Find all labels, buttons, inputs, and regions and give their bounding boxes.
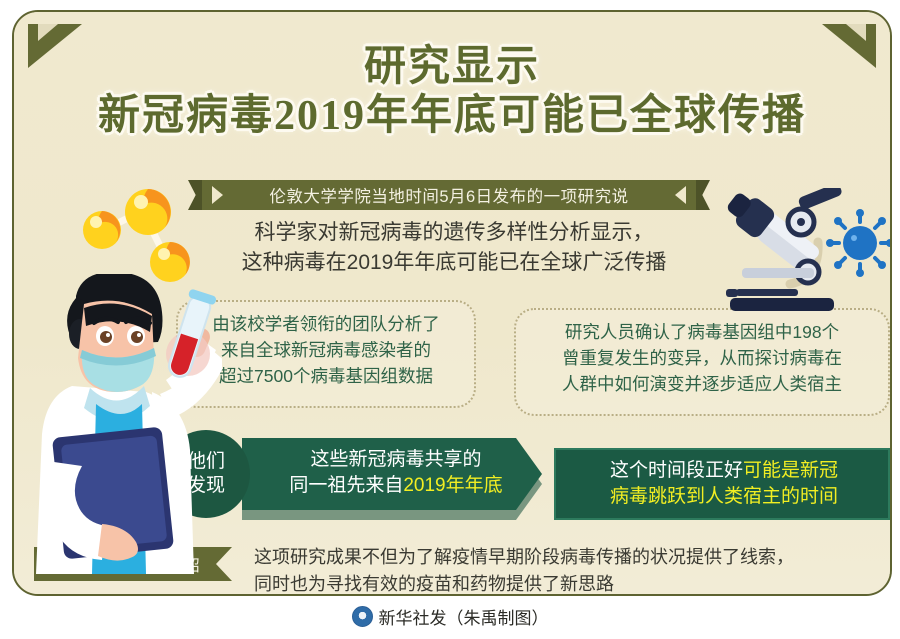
info-box-left-line-2: 来自全球新冠病毒感染者的 xyxy=(192,338,460,364)
conclusion-line-1-plain: 这个时间段正好 xyxy=(610,460,743,481)
lead-line-2: 这种病毒在2019年年底可能已在全球广泛传播 xyxy=(164,248,744,278)
info-box-right-line-2: 曾重复发生的变异，从而探讨病毒在 xyxy=(530,346,874,372)
findings-bar-line-2-plain: 同一祖先来自 xyxy=(289,475,403,496)
source-banner: 伦敦大学学院当地时间5月6日发布的一项研究说 xyxy=(202,180,696,210)
findings-bar-line-2-highlight: 2019年年底 xyxy=(403,475,502,496)
bottom-line-2: 同时也为寻找有效的疫苗和药物提供了新思路 xyxy=(254,571,874,596)
xinhua-logo-icon xyxy=(352,606,373,627)
conclusion-line-1-highlight: 可能是新冠 xyxy=(743,460,838,481)
findings-bar-line-2: 同一祖先来自2019年年底 xyxy=(276,473,516,499)
info-box-right: 研究人员确认了病毒基因组中198个 曾重复发生的变异，从而探讨病毒在 人群中如何… xyxy=(514,308,890,416)
bottom-line-1: 这项研究成果不但为了解疫情早期阶段病毒传播的状况提供了线索， xyxy=(254,544,874,571)
bottom-paragraph: 这项研究成果不但为了解疫情早期阶段病毒传播的状况提供了线索， 同时也为寻找有效的… xyxy=(254,544,874,596)
chevron-left-icon xyxy=(212,186,223,204)
conclusion-line-1: 这个时间段正好可能是新冠 xyxy=(568,458,880,484)
info-box-right-line-1: 研究人员确认了病毒基因组中198个 xyxy=(530,320,874,346)
credit-footer: 新华社发（朱禹制图） xyxy=(0,604,900,629)
conclusion-panel: 这个时间段正好可能是新冠 病毒跳跃到人类宿主的时间 xyxy=(554,448,890,520)
poster-frame: 研究显示 新冠病毒2019年年底可能已全球传播 伦敦大学学院当地时间5月6日发布… xyxy=(12,10,892,596)
info-box-right-line-3: 人群中如何演变并逐步适应人类宿主 xyxy=(530,372,874,398)
title-line-1: 研究显示 xyxy=(14,44,890,91)
lead-paragraph: 科学家对新冠病毒的遗传多样性分析显示， 这种病毒在2019年年底可能已在全球广泛… xyxy=(164,218,744,278)
credit-text: 新华社发（朱禹制图） xyxy=(379,604,549,629)
title-line-2: 新冠病毒2019年年底可能已全球传播 xyxy=(14,93,890,140)
test-tube-icon xyxy=(154,288,224,398)
info-box-left-line-1: 由该校学者领衔的团队分析了 xyxy=(192,312,460,338)
microscope-icon xyxy=(702,188,892,318)
chevron-right-icon xyxy=(675,186,686,204)
info-box-left-line-3: 超过7500个病毒基因组数据 xyxy=(192,364,460,390)
poster-title: 研究显示 新冠病毒2019年年底可能已全球传播 xyxy=(14,44,890,140)
findings-bar: 这些新冠病毒共享的 同一祖先来自2019年年底 xyxy=(242,438,542,510)
conclusion-line-2: 病毒跳跃到人类宿主的时间 xyxy=(568,484,880,510)
source-banner-text: 伦敦大学学院当地时间5月6日发布的一项研究说 xyxy=(269,183,628,207)
findings-bar-text: 这些新冠病毒共享的 同一祖先来自2019年年底 xyxy=(276,447,516,499)
findings-bar-line-1: 这些新冠病毒共享的 xyxy=(276,447,516,473)
lead-line-1: 科学家对新冠病毒的遗传多样性分析显示， xyxy=(164,218,744,248)
conclusion-panel-text: 这个时间段正好可能是新冠 病毒跳跃到人类宿主的时间 xyxy=(568,458,880,510)
info-box-right-text: 研究人员确认了病毒基因组中198个 曾重复发生的变异，从而探讨病毒在 人群中如何… xyxy=(516,310,888,398)
virus-particle-icon xyxy=(826,209,892,277)
infographic-canvas: 研究显示 新冠病毒2019年年底可能已全球传播 伦敦大学学院当地时间5月6日发布… xyxy=(0,0,900,639)
